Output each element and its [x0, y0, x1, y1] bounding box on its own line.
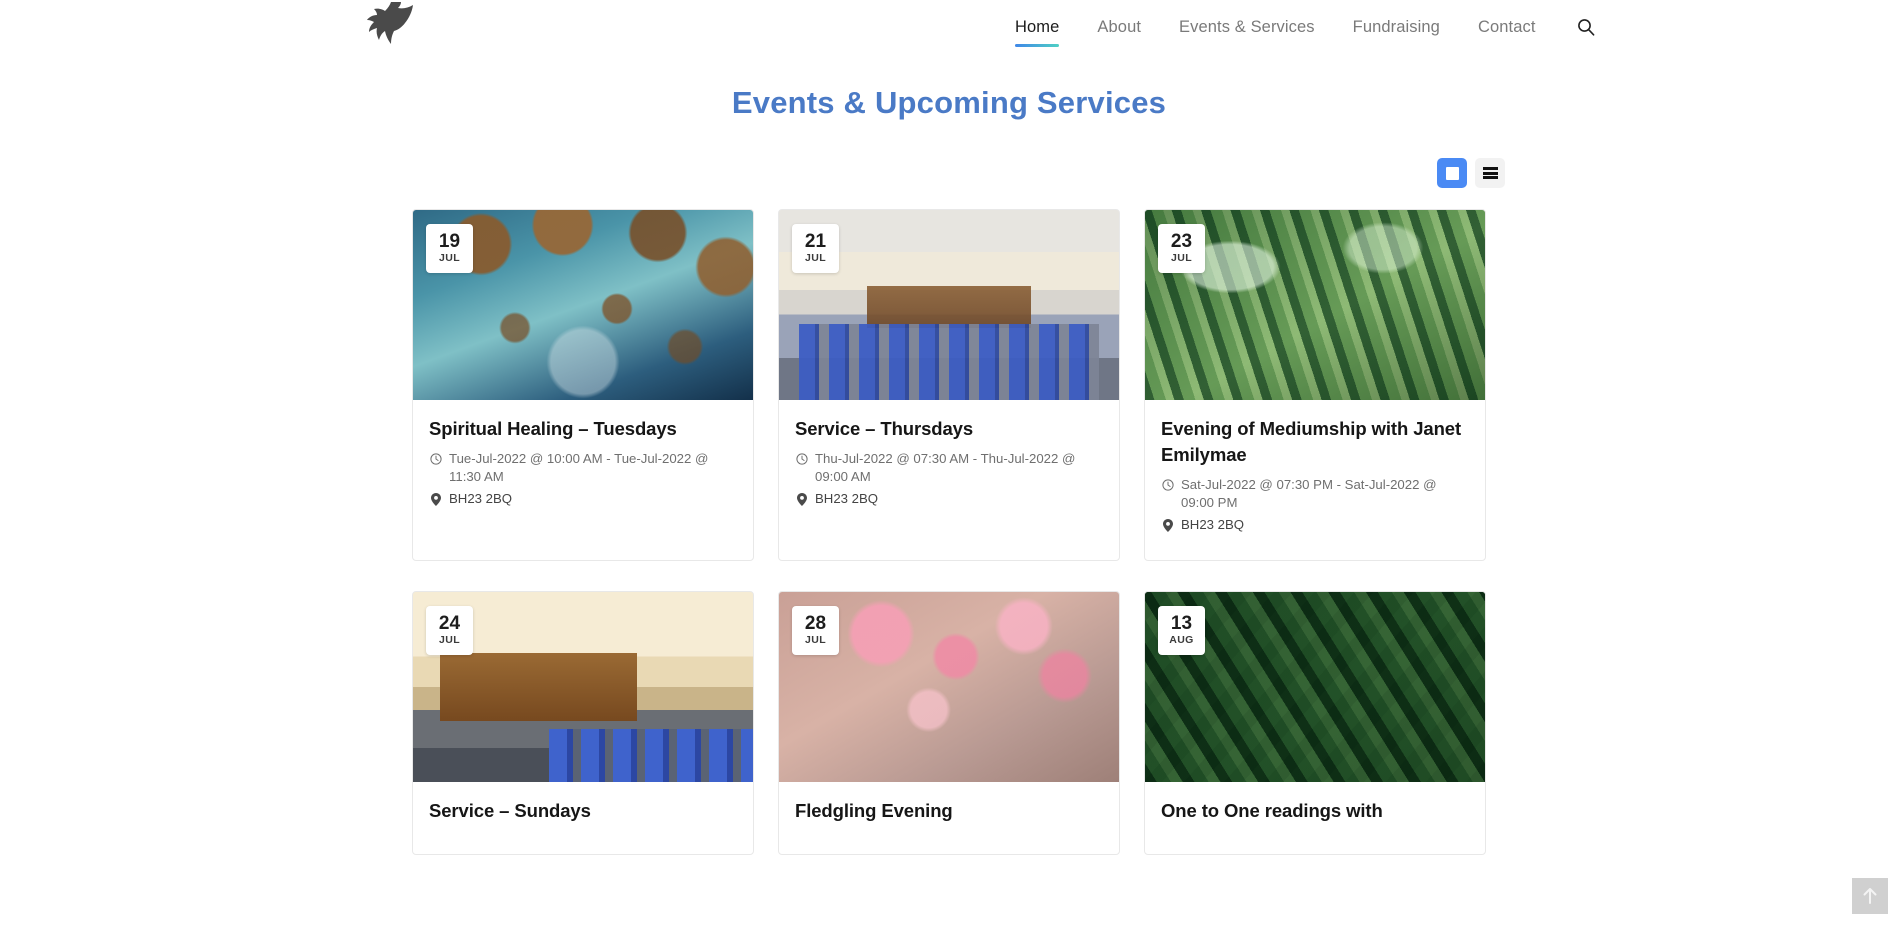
event-datetime: Thu-Jul-2022 @ 07:30 AM - Thu-Jul-2022 @…	[815, 450, 1103, 486]
events-grid: 19 JUL Spiritual Healing – Tuesdays Tue-…	[389, 209, 1509, 855]
page-title: Events & Upcoming Services	[0, 85, 1898, 121]
event-image: 19 JUL	[413, 210, 753, 400]
grid-icon	[1446, 167, 1459, 180]
location-pin-icon	[1161, 516, 1174, 534]
event-datetime: Sat-Jul-2022 @ 07:30 PM - Sat-Jul-2022 @…	[1181, 476, 1469, 512]
event-date-month: JUL	[439, 634, 460, 647]
search-button[interactable]	[1573, 14, 1599, 40]
event-card[interactable]: 19 JUL Spiritual Healing – Tuesdays Tue-…	[412, 209, 754, 561]
clock-icon	[795, 450, 808, 468]
event-date-month: AUG	[1169, 634, 1194, 647]
event-image: 28 JUL	[779, 592, 1119, 782]
event-date-badge: 23 JUL	[1158, 224, 1205, 273]
event-title[interactable]: Service – Sundays	[429, 798, 737, 824]
dove-icon	[361, 0, 417, 50]
event-datetime-row: Sat-Jul-2022 @ 07:30 PM - Sat-Jul-2022 @…	[1161, 476, 1469, 512]
event-location-row: BH23 2BQ	[795, 490, 1103, 508]
event-date-month: JUL	[439, 252, 460, 265]
nav-item-about[interactable]: About	[1078, 16, 1160, 38]
event-title[interactable]: Evening of Mediumship with Janet Emilyma…	[1161, 416, 1469, 468]
events-content: 19 JUL Spiritual Healing – Tuesdays Tue-…	[389, 158, 1509, 855]
event-body: Fledgling Evening	[779, 782, 1119, 854]
event-title[interactable]: Fledgling Evening	[795, 798, 1103, 824]
nav-item-fundraising[interactable]: Fundraising	[1334, 16, 1459, 38]
event-date-day: 13	[1171, 613, 1192, 634]
clock-icon	[429, 450, 442, 468]
event-date-month: JUL	[1171, 252, 1192, 265]
event-image: 13 AUG	[1145, 592, 1485, 782]
event-body: Service – Thursdays Thu-Jul-2022 @ 07:30…	[779, 400, 1119, 560]
event-card[interactable]: 24 JUL Service – Sundays	[412, 591, 754, 855]
event-body: Service – Sundays	[413, 782, 753, 854]
search-icon	[1577, 18, 1595, 36]
event-datetime: Tue-Jul-2022 @ 10:00 AM - Tue-Jul-2022 @…	[449, 450, 737, 486]
event-date-badge: 19 JUL	[426, 224, 473, 273]
nav-item-home[interactable]: Home	[996, 16, 1078, 38]
main-navigation: Home About Events & Services Fundraising…	[996, 14, 1599, 40]
event-body: Evening of Mediumship with Janet Emilyma…	[1145, 400, 1485, 560]
list-icon	[1483, 167, 1498, 179]
list-view-button[interactable]	[1475, 158, 1505, 188]
event-location-row: BH23 2BQ	[1161, 516, 1469, 534]
event-image: 24 JUL	[413, 592, 753, 782]
event-image: 21 JUL	[779, 210, 1119, 400]
event-location: BH23 2BQ	[1181, 516, 1469, 534]
clock-icon	[1161, 476, 1174, 494]
event-date-badge: 13 AUG	[1158, 606, 1205, 655]
event-title[interactable]: Service – Thursdays	[795, 416, 1103, 442]
event-card[interactable]: 28 JUL Fledgling Evening	[778, 591, 1120, 855]
event-date-day: 21	[805, 231, 826, 252]
event-location: BH23 2BQ	[815, 490, 1103, 508]
event-title[interactable]: Spiritual Healing – Tuesdays	[429, 416, 737, 442]
site-logo[interactable]	[356, 0, 422, 54]
event-body: One to One readings with	[1145, 782, 1485, 854]
event-location: BH23 2BQ	[449, 490, 737, 508]
event-card[interactable]: 13 AUG One to One readings with	[1144, 591, 1486, 855]
location-pin-icon	[429, 490, 442, 508]
event-date-day: 23	[1171, 231, 1192, 252]
scroll-to-top-button[interactable]	[1852, 878, 1888, 914]
event-location-row: BH23 2BQ	[429, 490, 737, 508]
location-pin-icon	[795, 490, 808, 508]
event-date-badge: 24 JUL	[426, 606, 473, 655]
event-image: 23 JUL	[1145, 210, 1485, 400]
event-datetime-row: Thu-Jul-2022 @ 07:30 AM - Thu-Jul-2022 @…	[795, 450, 1103, 486]
site-header: Home About Events & Services Fundraising…	[0, 0, 1898, 56]
event-date-day: 24	[439, 613, 460, 634]
event-card[interactable]: 21 JUL Service – Thursdays Thu-Jul-2022 …	[778, 209, 1120, 561]
event-card[interactable]: 23 JUL Evening of Mediumship with Janet …	[1144, 209, 1486, 561]
event-date-day: 28	[805, 613, 826, 634]
arrow-up-icon	[1862, 887, 1878, 905]
event-title[interactable]: One to One readings with	[1161, 798, 1469, 824]
event-body: Spiritual Healing – Tuesdays Tue-Jul-202…	[413, 400, 753, 560]
event-date-badge: 28 JUL	[792, 606, 839, 655]
event-date-month: JUL	[805, 252, 826, 265]
event-datetime-row: Tue-Jul-2022 @ 10:00 AM - Tue-Jul-2022 @…	[429, 450, 737, 486]
event-date-month: JUL	[805, 634, 826, 647]
event-date-day: 19	[439, 231, 460, 252]
view-toggle-toolbar	[389, 158, 1509, 188]
nav-item-events-services[interactable]: Events & Services	[1160, 16, 1334, 38]
event-date-badge: 21 JUL	[792, 224, 839, 273]
nav-item-contact[interactable]: Contact	[1459, 16, 1555, 38]
grid-view-button[interactable]	[1437, 158, 1467, 188]
